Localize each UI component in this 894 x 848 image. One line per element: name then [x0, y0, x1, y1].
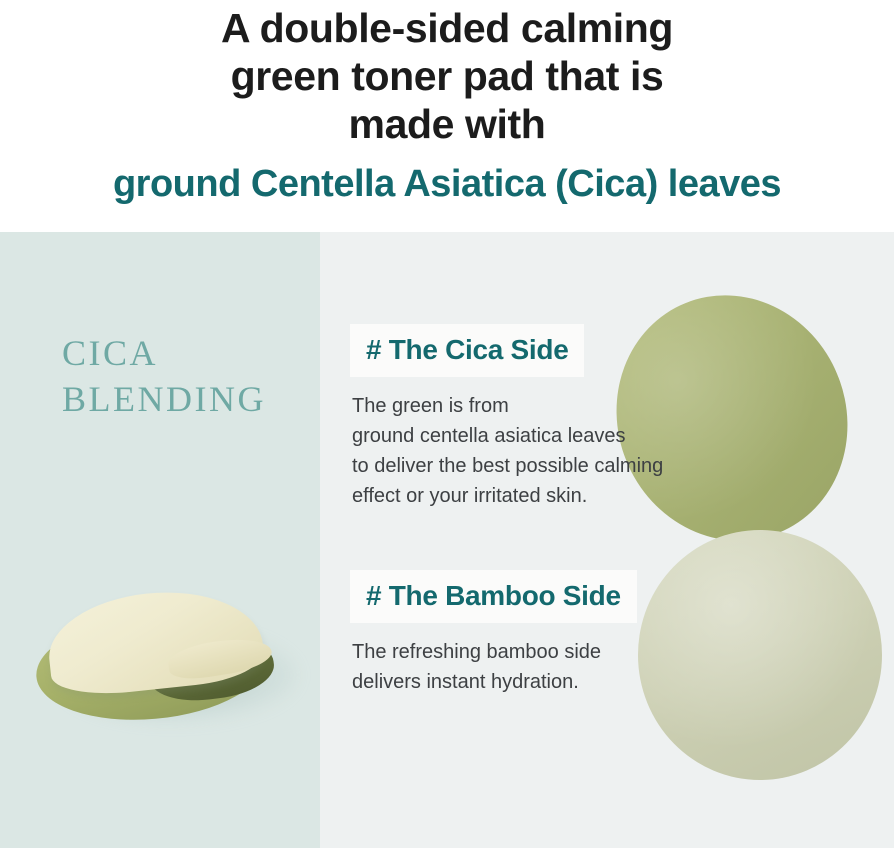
header-band: A double-sided calming green toner pad t… [0, 0, 894, 232]
section-bamboo-side: # The Bamboo Side The refreshing bamboo … [320, 570, 894, 697]
left-panel: CICA BLENDING [0, 232, 320, 848]
right-panel: # The Cica Side The green is from ground… [320, 232, 894, 848]
section-cica-heading: # The Cica Side [350, 324, 584, 377]
body-area: CICA BLENDING # The Cica Side The green … [0, 232, 894, 848]
headline-line-2: green toner pad that is [0, 52, 894, 100]
headline-line-1: A double-sided calming [0, 4, 894, 52]
subheadline: ground Centella Asiatica (Cica) leaves [0, 148, 894, 207]
headline: A double-sided calming green toner pad t… [0, 4, 894, 148]
headline-line-3: made with [0, 100, 894, 148]
section-cica-side: # The Cica Side The green is from ground… [320, 324, 894, 511]
section-bamboo-body: The refreshing bamboo side delivers inst… [352, 637, 894, 697]
product-infographic: A double-sided calming green toner pad t… [0, 0, 894, 848]
section-cica-body: The green is from ground centella asiati… [352, 391, 894, 511]
section-bamboo-heading: # The Bamboo Side [350, 570, 637, 623]
brand-mark: CICA BLENDING [62, 330, 266, 422]
folded-toner-pad-photo [0, 587, 320, 767]
